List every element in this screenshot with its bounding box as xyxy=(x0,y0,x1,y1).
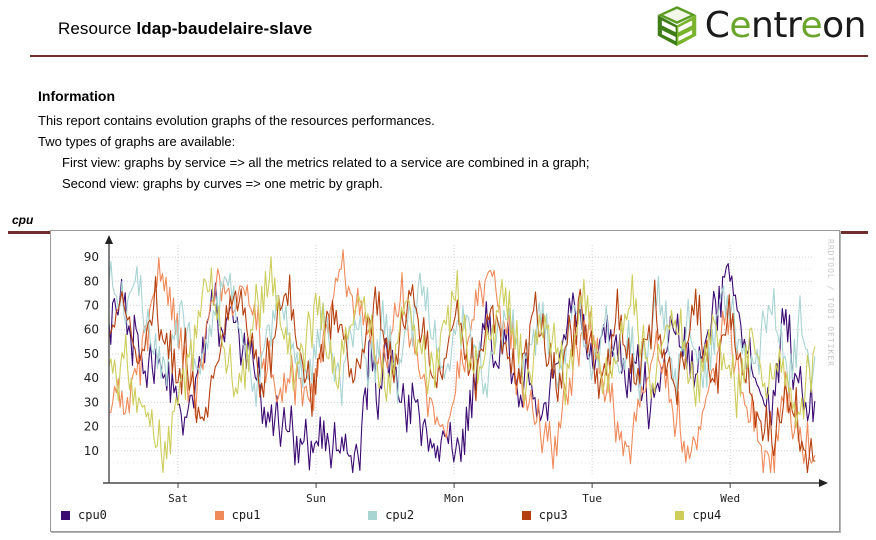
cpu-graph-plot-area: 102030405060708090SatSunMonTueWed xyxy=(51,231,839,531)
legend-label-cpu2: cpu2 xyxy=(385,508,414,522)
cpu-graph-svg: 102030405060708090SatSunMonTueWed xyxy=(51,231,839,507)
legend-swatch-cpu1 xyxy=(215,511,224,520)
svg-text:40: 40 xyxy=(84,371,99,385)
legend-item-cpu2[interactable]: cpu2 xyxy=(368,508,522,522)
legend-swatch-cpu0 xyxy=(61,511,70,520)
legend-item-cpu4[interactable]: cpu4 xyxy=(675,508,829,522)
page-title-prefix: Resource xyxy=(58,19,132,38)
header-divider xyxy=(30,55,868,57)
information-line-1: Two types of graphs are available: xyxy=(38,131,738,152)
svg-text:90: 90 xyxy=(84,250,99,264)
brand-wordmark-on: on xyxy=(822,5,866,46)
report-header: Resource ldap-baudelaire-slave Centreon xyxy=(0,0,876,60)
legend-label-cpu0: cpu0 xyxy=(78,508,107,522)
page-title-resource-name: ldap-baudelaire-slave xyxy=(136,19,312,38)
svg-text:20: 20 xyxy=(84,420,99,434)
rrdtool-watermark: RRDTOOL / TOBI OETIKER xyxy=(826,239,835,367)
svg-text:50: 50 xyxy=(84,347,99,361)
information-line-0: This report contains evolution graphs of… xyxy=(38,110,738,131)
brand-wordmark-ntr: ntr xyxy=(751,5,800,46)
legend-label-cpu4: cpu4 xyxy=(692,508,721,522)
cpu-section-label: cpu xyxy=(12,213,33,227)
brand-wordmark-c: C xyxy=(705,5,730,46)
legend-label-cpu3: cpu3 xyxy=(539,508,568,522)
information-line-2: First view: graphs by service => all the… xyxy=(38,152,738,173)
centreon-cube-icon xyxy=(655,4,699,48)
brand-wordmark-e2: e xyxy=(801,5,823,46)
cpu-graph-panel: 102030405060708090SatSunMonTueWed RRDTOO… xyxy=(50,230,840,532)
legend-swatch-cpu2 xyxy=(368,511,377,520)
legend-swatch-cpu4 xyxy=(675,511,684,520)
svg-text:Tue: Tue xyxy=(582,492,602,505)
centreon-logo: Centreon xyxy=(655,4,866,48)
svg-text:Sat: Sat xyxy=(168,492,188,505)
svg-text:10: 10 xyxy=(84,444,99,458)
svg-text:30: 30 xyxy=(84,395,99,409)
cpu-graph-legend: cpu0cpu1cpu2cpu3cpu4 xyxy=(61,505,829,525)
information-line-3: Second view: graphs by curves => one met… xyxy=(38,173,738,194)
information-lines: This report contains evolution graphs of… xyxy=(38,110,738,194)
legend-swatch-cpu3 xyxy=(522,511,531,520)
svg-text:Wed: Wed xyxy=(720,492,740,505)
information-block: Information This report contains evoluti… xyxy=(38,88,738,194)
svg-text:Sun: Sun xyxy=(306,492,326,505)
svg-text:60: 60 xyxy=(84,323,99,337)
legend-item-cpu3[interactable]: cpu3 xyxy=(522,508,676,522)
brand-wordmark-e1: e xyxy=(729,5,751,46)
information-heading: Information xyxy=(38,88,738,104)
legend-item-cpu0[interactable]: cpu0 xyxy=(61,508,215,522)
svg-text:80: 80 xyxy=(84,274,99,288)
legend-label-cpu1: cpu1 xyxy=(232,508,261,522)
brand-wordmark: Centreon xyxy=(705,8,866,44)
legend-item-cpu1[interactable]: cpu1 xyxy=(215,508,369,522)
svg-text:70: 70 xyxy=(84,299,99,313)
svg-text:Mon: Mon xyxy=(444,492,464,505)
page-title: Resource ldap-baudelaire-slave xyxy=(58,19,312,39)
